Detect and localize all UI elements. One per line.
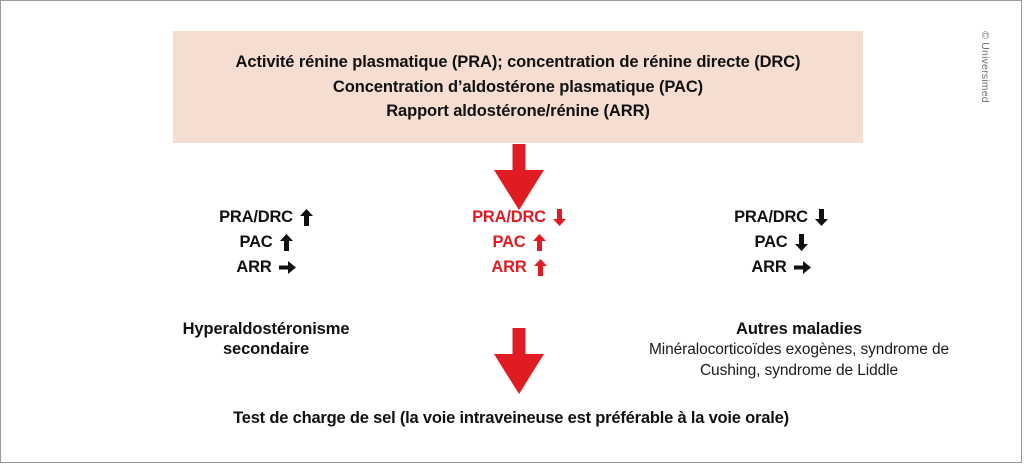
header-line-2: Concentration d’aldostérone plasmatique … — [333, 78, 703, 96]
indicator-label: PAC — [239, 234, 272, 251]
header-line-3: Rapport aldostérone/rénine (ARR) — [386, 102, 650, 120]
indicator-label: PRA/DRC — [472, 209, 546, 226]
diagnosis-left: Hyperaldostéronisme secondaire — [141, 319, 391, 359]
indicator-row: PAC — [492, 234, 545, 251]
indicator-label: ARR — [491, 259, 526, 276]
arrow-up-icon — [534, 259, 547, 276]
indicator-row: PRA/DRC — [219, 209, 313, 226]
diagnosis-left-title-line2: secondaire — [141, 339, 391, 359]
indicator-row: PAC — [239, 234, 292, 251]
indicator-row: ARR — [491, 259, 546, 276]
diagnosis-right-detail-line1: Minéralocorticoïdes exogènes, syndrome d… — [599, 340, 999, 359]
arrow-up-icon — [300, 209, 313, 226]
copyright-notice: © Universimed — [979, 7, 991, 127]
figure-container: © Universimed Activité rénine plasmatiqu… — [0, 0, 1022, 463]
arrow-right-icon — [279, 261, 296, 274]
indicator-label: ARR — [236, 259, 271, 276]
diagnosis-right: Autres maladies Minéralocorticoïdes exog… — [599, 319, 999, 380]
arrow-down-icon — [553, 209, 566, 226]
arrow-down-icon — [815, 209, 828, 226]
header-line-1: Activité rénine plasmatique (PRA); conce… — [236, 53, 801, 71]
indicator-label: ARR — [751, 259, 786, 276]
indicator-label: PAC — [754, 234, 787, 251]
diagnosis-left-title: Hyperaldostéronisme — [141, 319, 391, 339]
indicator-row: ARR — [751, 259, 810, 276]
arrow-up-icon — [533, 234, 546, 251]
indicator-label: PRA/DRC — [219, 209, 293, 226]
arrow-up-icon — [280, 234, 293, 251]
indicator-row: PAC — [754, 234, 807, 251]
indicator-column-right: PRA/DRC PAC ARR — [666, 209, 896, 276]
arrow-down-icon — [795, 234, 808, 251]
indicator-label: PRA/DRC — [734, 209, 808, 226]
arrow-right-icon — [794, 261, 811, 274]
header-measurements-box: Activité rénine plasmatique (PRA); conce… — [173, 31, 863, 143]
footer-caption: Test de charge de sel (la voie intravein… — [1, 409, 1021, 428]
diagnosis-right-title: Autres maladies — [599, 319, 999, 339]
indicator-row: PRA/DRC — [734, 209, 828, 226]
indicator-row: ARR — [236, 259, 295, 276]
indicator-column-center: PRA/DRC PAC ARR — [404, 209, 634, 276]
flow-arrow-down-bottom-icon — [491, 328, 547, 394]
indicator-label: PAC — [492, 234, 525, 251]
indicator-row: PRA/DRC — [472, 209, 566, 226]
flow-arrow-down-top-icon — [491, 144, 547, 210]
indicator-column-left: PRA/DRC PAC ARR — [151, 209, 381, 276]
diagnosis-right-detail-line2: Cushing, syndrome de Liddle — [599, 361, 999, 380]
